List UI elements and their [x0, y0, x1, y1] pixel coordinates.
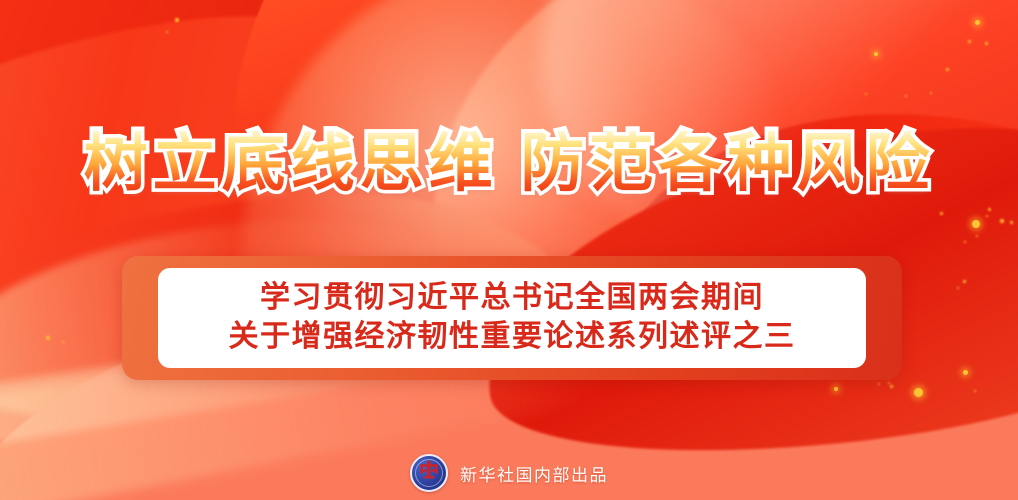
subtitle-line-1: 学习贯彻习近平总书记全国两会期间 — [260, 280, 764, 317]
sparkle-dot — [166, 31, 168, 33]
logo-emblem-glyph — [418, 460, 440, 480]
sparkle-dot — [46, 336, 50, 340]
sparkle-dot — [968, 40, 971, 43]
subtitle-line-2: 关于增强经济韧性重要论述系列述评之三 — [229, 319, 796, 356]
main-title-text: 树立底线思维 防范各种风险 — [84, 131, 935, 195]
sparkle-dot — [975, 20, 980, 25]
sparkle-dot — [946, 68, 949, 71]
footer-attribution: 新华社国内部出品 — [0, 454, 1018, 492]
sparkle-dot — [62, 341, 64, 343]
sparkle-dot — [905, 95, 907, 97]
news-banner: 树立底线思维 防范各种风险 树立底线思维 防范各种风险 学习贯彻习近平总书记全国… — [0, 0, 1018, 500]
sparkle-dot — [865, 93, 867, 95]
sparkle-dot — [175, 18, 179, 22]
footer-text: 新华社国内部出品 — [460, 461, 608, 486]
main-title-container: 树立底线思维 防范各种风险 — [0, 131, 1018, 195]
sparkle-dot — [874, 52, 878, 56]
xinhua-agency-logo-icon — [410, 454, 448, 492]
subtitle-plaque-inner: 学习贯彻习近平总书记全国两会期间 关于增强经济韧性重要论述系列述评之三 — [158, 268, 866, 368]
subtitle-plaque-frame: 学习贯彻习近平总书记全国两会期间 关于增强经济韧性重要论述系列述评之三 — [122, 256, 902, 380]
sparkle-dot — [930, 92, 932, 94]
sparkle-dot — [985, 42, 988, 45]
